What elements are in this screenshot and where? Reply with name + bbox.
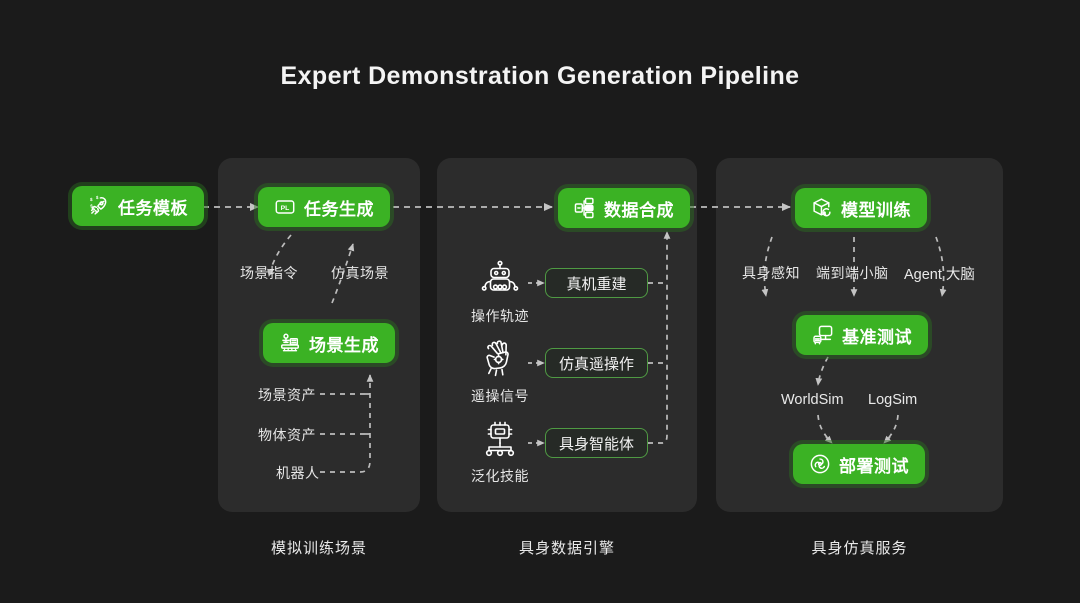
node-label: 模型训练 xyxy=(841,196,911,221)
icon-label: 操作轨迹 xyxy=(471,306,529,326)
label-logsim: LogSim xyxy=(868,392,917,408)
label-object-asset: 物体资产 xyxy=(258,425,316,445)
node-benchmark-test[interactable]: 基准测试 xyxy=(796,315,928,355)
diagram-canvas: Expert Demonstration Generation Pipeline xyxy=(0,0,1080,603)
node-label: 任务模板 xyxy=(118,194,188,219)
node-label: 场景生成 xyxy=(309,331,379,356)
rocket-icon: $ $ $ xyxy=(88,195,110,217)
box-label: 仿真遥操作 xyxy=(559,353,634,374)
node-task-generation[interactable]: PL 任务生成 xyxy=(258,187,390,227)
label-end-to-end-cerebellum: 端到端小脑 xyxy=(816,263,889,283)
label-worldsim: WorldSim xyxy=(781,392,844,408)
icon-label: 泛化技能 xyxy=(471,466,529,486)
node-scene-generation[interactable]: 场景生成 xyxy=(263,323,395,363)
svg-text:$: $ xyxy=(90,197,93,202)
node-label: 基准测试 xyxy=(842,323,912,348)
node-deployment-test[interactable]: 部署测试 xyxy=(793,444,925,484)
node-label: 任务生成 xyxy=(304,195,374,220)
pl-frame-icon: PL xyxy=(274,196,296,218)
label-scene-instruction: 场景指令 xyxy=(240,263,298,283)
cube-refresh-icon xyxy=(811,197,833,219)
icon-label: 遥操信号 xyxy=(471,386,529,406)
node-label: 部署测试 xyxy=(839,452,909,477)
worker-conveyor-icon xyxy=(279,332,301,354)
svg-text:PL: PL xyxy=(281,205,290,212)
label-simulated-scene: 仿真场景 xyxy=(331,263,389,283)
box-embodied-agent[interactable]: 具身智能体 xyxy=(545,428,648,458)
box-simulated-teleoperation[interactable]: 仿真遥操作 xyxy=(545,348,648,378)
label-agent-brain: Agent 大脑 xyxy=(904,263,975,284)
icon-group-operation-trajectory: 操作轨迹 xyxy=(471,260,529,326)
caption-simulation-training-scene: 模拟训练场景 xyxy=(218,537,420,558)
box-label: 具身智能体 xyxy=(559,433,634,454)
svg-text:$: $ xyxy=(90,203,93,208)
connector-layer xyxy=(0,0,1080,603)
node-task-template[interactable]: $ $ $ 任务模板 xyxy=(72,186,204,226)
node-model-training[interactable]: 模型训练 xyxy=(795,188,927,228)
benchmark-screen-icon xyxy=(812,324,834,346)
icon-group-teleop-signal: 遥操信号 xyxy=(471,340,529,406)
node-label: 数据合成 xyxy=(604,196,674,221)
caption-embodied-data-engine: 具身数据引擎 xyxy=(437,537,697,558)
label-robot: 机器人 xyxy=(276,463,320,483)
data-merge-icon xyxy=(574,197,596,219)
box-label: 真机重建 xyxy=(566,273,626,294)
chip-network-icon xyxy=(479,420,521,462)
caption-embodied-simulation-service: 具身仿真服务 xyxy=(716,537,1003,558)
icon-group-generalized-skill: 泛化技能 xyxy=(471,420,529,486)
svg-text:$: $ xyxy=(96,195,99,200)
glove-icon xyxy=(479,340,521,382)
robot-icon xyxy=(479,260,521,302)
label-embodied-perception: 具身感知 xyxy=(742,263,800,283)
label-scene-asset: 场景资产 xyxy=(258,385,316,405)
node-data-synthesis[interactable]: 数据合成 xyxy=(558,188,690,228)
box-real-machine-reconstruction[interactable]: 真机重建 xyxy=(545,268,648,298)
deploy-circle-icon xyxy=(809,453,831,475)
